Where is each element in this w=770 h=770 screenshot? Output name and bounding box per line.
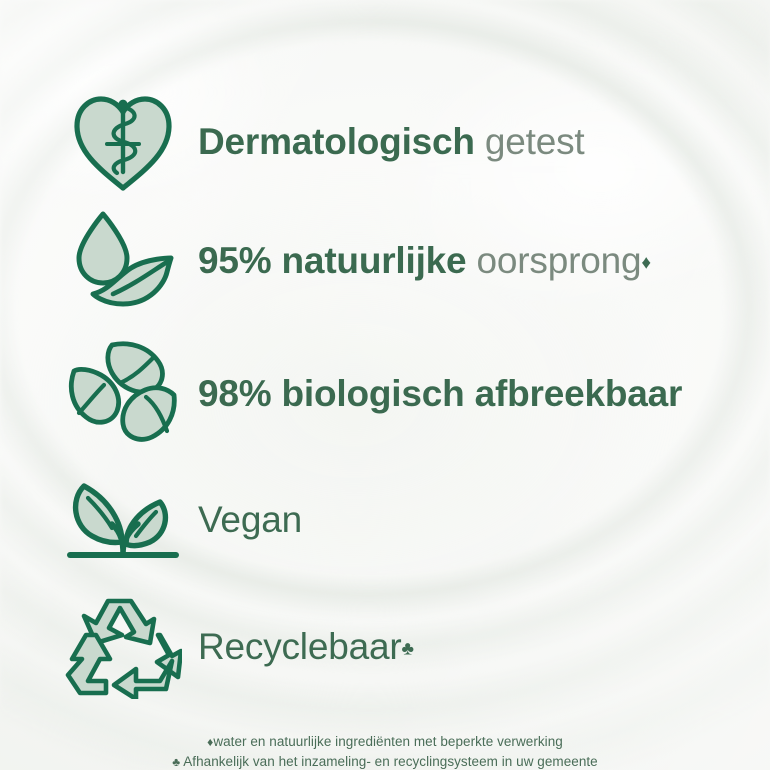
- claim-row-vegan: Vegan: [0, 475, 770, 565]
- heart-caduceus-icon: [58, 90, 188, 194]
- claim-regular-text: oorsprong: [466, 240, 641, 281]
- footnotes: ♦water en natuurlijke ingrediënten met b…: [0, 732, 770, 770]
- droplet-leaf-icon: [58, 206, 188, 316]
- footnote-marker-club: ♣: [172, 755, 180, 769]
- footnote-line-2: ♣ Afhankelijk van het inzameling- en rec…: [0, 752, 770, 770]
- three-leaves-cycle-icon: [58, 335, 188, 453]
- claim-bold-text: 98% biologisch afbreekbaar: [198, 373, 682, 414]
- sprout-icon: [58, 476, 188, 564]
- footnote-marker-club: ♣: [401, 638, 413, 659]
- claim-row-dermatologisch: Dermatologisch getest: [0, 88, 770, 196]
- claim-regular-text: Recyclebaar: [198, 626, 401, 667]
- claim-row-natuurlijke-oorsprong: 95% natuurlijke oorsprong♦: [0, 205, 770, 317]
- claim-label-biologisch-afbreekbaar: 98% biologisch afbreekbaar: [198, 375, 682, 414]
- claim-row-biologisch-afbreekbaar: 98% biologisch afbreekbaar: [0, 333, 770, 455]
- footnote-marker-diamond: ♦: [641, 252, 651, 273]
- recycling-triangle-icon: [58, 595, 188, 699]
- footnote-line-1: ♦water en natuurlijke ingrediënten met b…: [0, 732, 770, 752]
- claim-bold-text: Dermatologisch: [198, 121, 475, 162]
- footnote-text: Afhankelijk van het inzameling- en recyc…: [180, 754, 598, 769]
- footnote-text: water en natuurlijke ingrediënten met be…: [213, 734, 563, 749]
- claim-regular-text: Vegan: [198, 499, 302, 540]
- claim-row-recyclebaar: Recyclebaar♣: [0, 592, 770, 702]
- claim-label-dermatologisch: Dermatologisch getest: [198, 123, 585, 162]
- claim-bold-text: 95% natuurlijke: [198, 240, 466, 281]
- claim-label-natuurlijke-oorsprong: 95% natuurlijke oorsprong♦: [198, 242, 651, 281]
- claim-label-recyclebaar: Recyclebaar♣: [198, 628, 414, 667]
- claim-regular-text: getest: [475, 121, 585, 162]
- claim-label-vegan: Vegan: [198, 501, 302, 540]
